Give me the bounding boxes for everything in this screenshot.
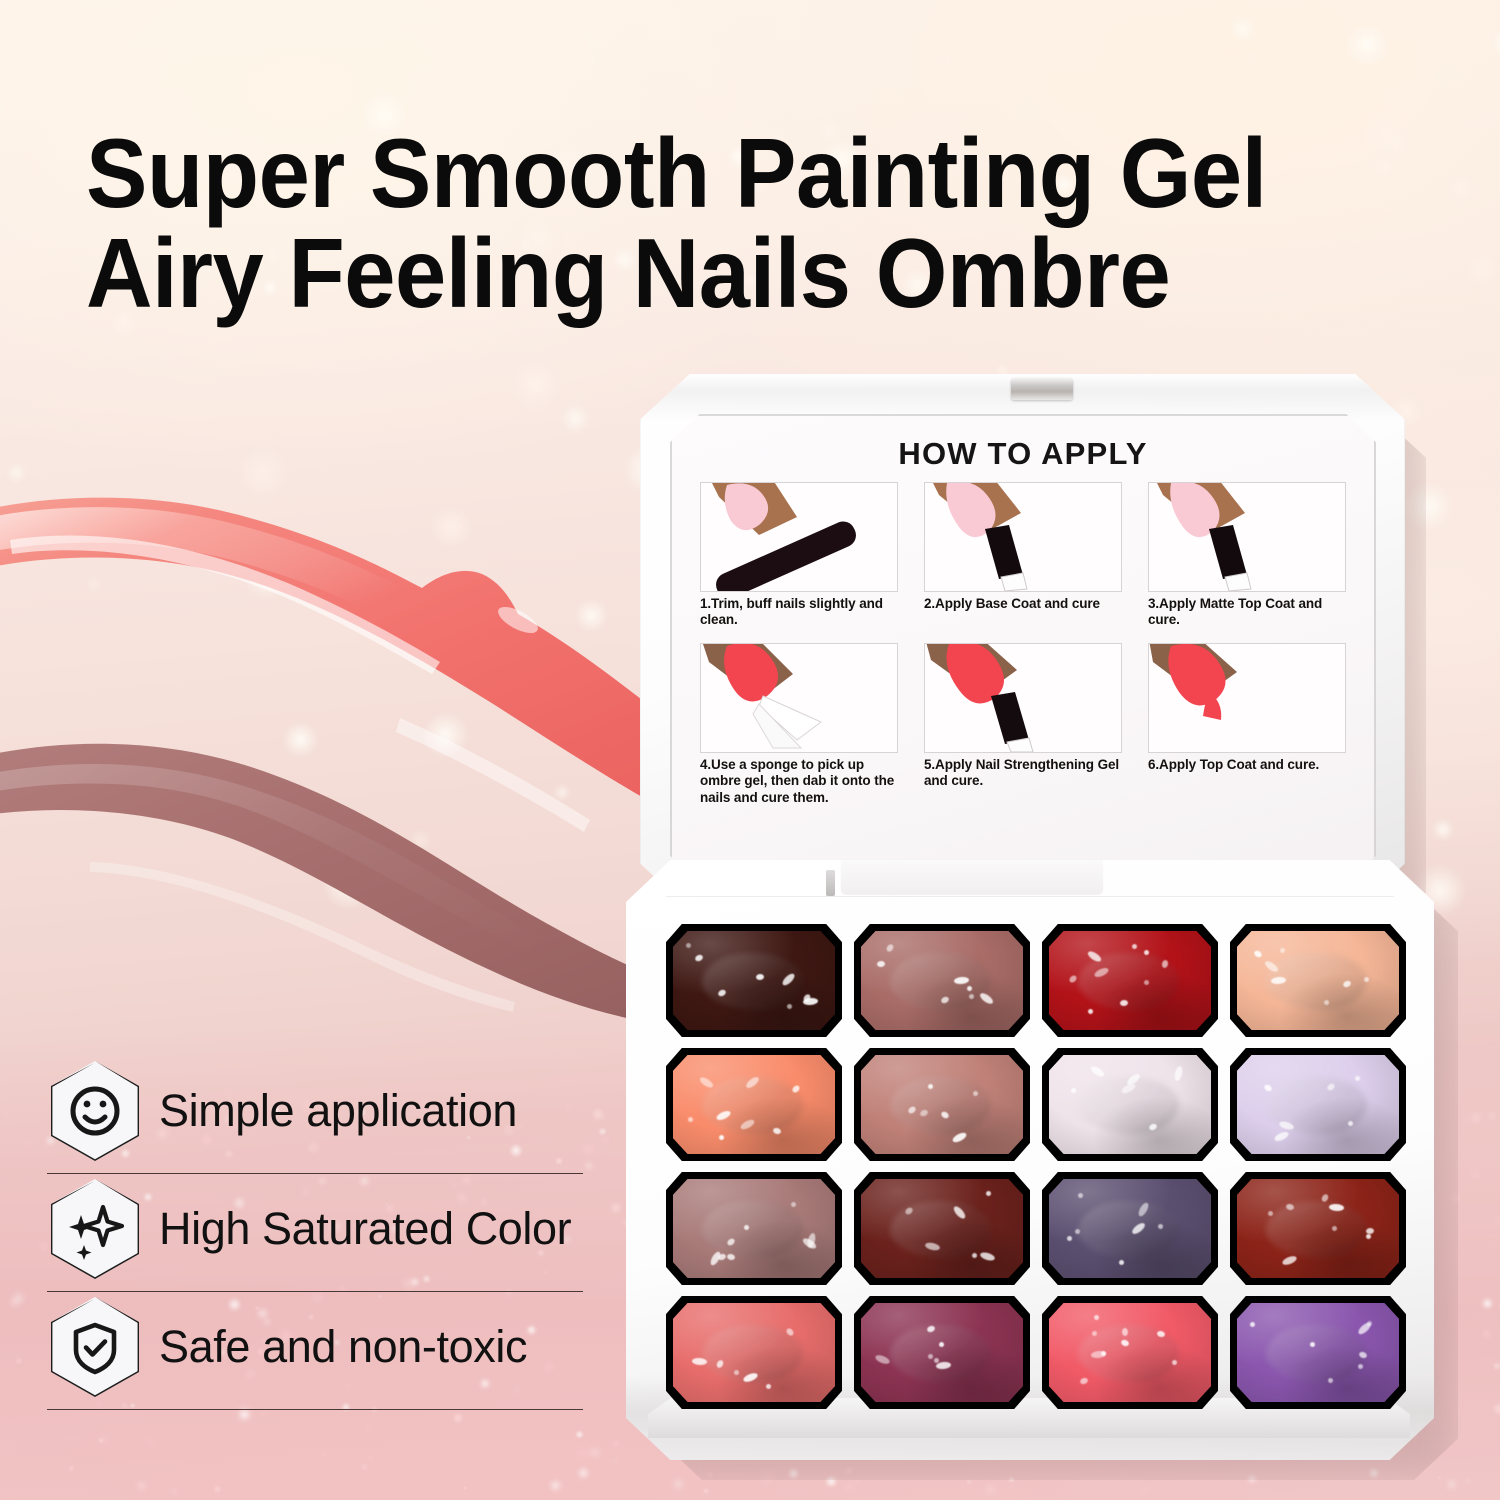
instruction-step: 5.Apply Nail Strengthening Gel and cure. (924, 643, 1124, 806)
gel-palette-case[interactable]: HOW TO APPLY 1.Trim, buff nails slightly… (618, 352, 1438, 1492)
color-swatch-mauve-taupe[interactable] (666, 1172, 842, 1285)
step-illustration-top-coat (1148, 643, 1346, 753)
headline-line-2: Airy Feeling Nails Ombre (86, 226, 1364, 320)
color-swatch-dark-chocolate[interactable] (666, 924, 842, 1037)
step-caption: 4.Use a sponge to pick up ombre gel, the… (700, 757, 900, 806)
color-swatch-peach-nude[interactable] (1230, 924, 1406, 1037)
how-to-apply-title: HOW TO APPLY (670, 436, 1376, 472)
gel-surface (861, 931, 1023, 1030)
gel-surface (861, 1303, 1023, 1402)
color-swatch-grid[interactable] (666, 924, 1406, 1409)
gel-surface (861, 1179, 1023, 1278)
gel-surface (673, 1179, 835, 1278)
step-caption: 2.Apply Base Coat and cure (924, 596, 1124, 612)
instruction-row-bottom: 4.Use a sponge to pick up ombre gel, the… (700, 643, 1350, 806)
step-caption: 5.Apply Nail Strengthening Gel and cure. (924, 757, 1124, 790)
color-swatch-bright-coral[interactable] (666, 1048, 842, 1161)
feature-icon-badge (45, 1294, 145, 1400)
feature-list: Simple application High Saturated Color … (45, 1052, 605, 1406)
instruction-step: 1.Trim, buff nails slightly and clean. (700, 482, 900, 629)
step-caption: 1.Trim, buff nails slightly and clean. (700, 596, 900, 629)
color-swatch-muted-clay-rose[interactable] (854, 1048, 1030, 1161)
color-swatch-deep-burgundy[interactable] (854, 1172, 1030, 1285)
color-swatch-crimson-red[interactable] (1042, 924, 1218, 1037)
feature-icon-badge (45, 1058, 145, 1164)
instruction-step: 2.Apply Base Coat and cure (924, 482, 1124, 629)
step-illustration-strengthening-gel (924, 643, 1122, 753)
gel-surface (1049, 1303, 1211, 1402)
gel-surface (673, 931, 835, 1030)
gel-surface (673, 1303, 835, 1402)
color-swatch-dark-brick-red[interactable] (1230, 1172, 1406, 1285)
color-swatch-hot-pink-coral[interactable] (1042, 1296, 1218, 1409)
step-illustration-matte-top-coat (1148, 482, 1346, 592)
feature-label: Simple application (159, 1085, 517, 1137)
gel-surface (1049, 1055, 1211, 1154)
feature-item-safe-non-toxic: Safe and non-toxic (45, 1288, 605, 1406)
sparkles-icon (51, 1179, 139, 1279)
step-caption: 6.Apply Top Coat and cure. (1148, 757, 1348, 773)
feature-label: High Saturated Color (159, 1203, 571, 1255)
feature-divider (47, 1409, 583, 1410)
feature-icon-badge (45, 1176, 145, 1282)
gel-surface (861, 1055, 1023, 1154)
instruction-steps: 1.Trim, buff nails slightly and clean. 2… (700, 482, 1350, 820)
color-swatch-medium-purple[interactable] (1230, 1296, 1406, 1409)
color-swatch-pale-lavender[interactable] (1230, 1048, 1406, 1161)
color-swatch-pearl-white-pink[interactable] (1042, 1048, 1218, 1161)
step-illustration-base-coat (924, 482, 1122, 592)
color-swatch-dusty-rosewood[interactable] (854, 924, 1030, 1037)
color-swatch-wine-plum[interactable] (854, 1296, 1030, 1409)
feature-item-high-saturated-color: High Saturated Color (45, 1170, 605, 1288)
color-swatch-slate-purple[interactable] (1042, 1172, 1218, 1285)
gel-surface (1237, 1303, 1399, 1402)
instruction-step: 6.Apply Top Coat and cure. (1148, 643, 1348, 806)
step-illustration-file (700, 482, 898, 592)
shield-check-icon (51, 1297, 139, 1397)
gel-surface (1049, 1179, 1211, 1278)
mauve-gel-smear (0, 744, 672, 1026)
gel-surface (1049, 931, 1211, 1030)
headline-line-1: Super Smooth Painting Gel (86, 126, 1364, 220)
instruction-step: 4.Use a sponge to pick up ombre gel, the… (700, 643, 900, 806)
smiley-face-icon (51, 1061, 139, 1161)
page-title: Super Smooth Painting Gel Airy Feeling N… (86, 126, 1364, 320)
instruction-row-top: 1.Trim, buff nails slightly and clean. 2… (700, 482, 1350, 629)
color-swatch-coral-pink[interactable] (666, 1296, 842, 1409)
gel-surface (1237, 1055, 1399, 1154)
gel-surface (673, 1055, 835, 1154)
step-caption: 3.Apply Matte Top Coat and cure. (1148, 596, 1348, 629)
instruction-step: 3.Apply Matte Top Coat and cure. (1148, 482, 1348, 629)
gel-surface (1237, 1179, 1399, 1278)
feature-item-simple-application: Simple application (45, 1052, 605, 1170)
gel-surface (1237, 931, 1399, 1030)
clasp-latch-icon[interactable] (1011, 378, 1073, 400)
feature-label: Safe and non-toxic (159, 1321, 527, 1373)
step-illustration-sponge (700, 643, 898, 753)
